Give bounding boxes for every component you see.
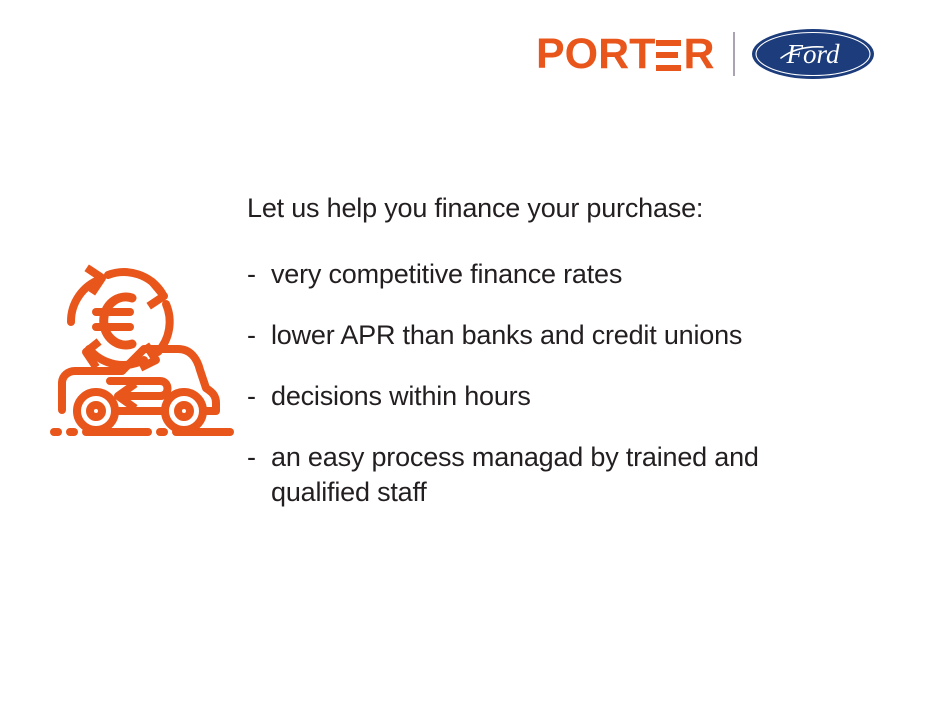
list-item: - decisions within hours (247, 379, 887, 414)
slide-content: Let us help you finance your purchase: -… (247, 193, 887, 511)
car-finance-icon (44, 248, 240, 448)
headline: Let us help you finance your purchase: (247, 193, 887, 224)
porter-wordmark-part2: R (683, 33, 714, 76)
list-item: - an easy process managad by trained and… (247, 440, 887, 510)
porter-stylized-e-icon (656, 40, 681, 71)
finance-slide: PORT R Ford (0, 0, 938, 704)
list-item: - very competitive finance rates (247, 257, 887, 292)
porter-logo: PORT R (536, 33, 715, 76)
logo-divider (733, 32, 735, 76)
list-item-label: an easy process managad by trained and q… (271, 440, 849, 510)
bullet-dash-icon: - (247, 440, 271, 475)
list-item-label: very competitive finance rates (271, 257, 887, 292)
ford-logo: Ford (751, 28, 875, 80)
benefits-list: - very competitive finance rates - lower… (247, 257, 887, 510)
list-item: - lower APR than banks and credit unions (247, 318, 887, 353)
list-item-label: lower APR than banks and credit unions (271, 318, 887, 353)
bullet-dash-icon: - (247, 318, 271, 353)
svg-text:Ford: Ford (785, 39, 839, 69)
brand-logo-lockup: PORT R Ford (536, 26, 875, 82)
porter-wordmark-part1: PORT (536, 33, 655, 76)
list-item-label: decisions within hours (271, 379, 887, 414)
bullet-dash-icon: - (247, 257, 271, 292)
bullet-dash-icon: - (247, 379, 271, 414)
